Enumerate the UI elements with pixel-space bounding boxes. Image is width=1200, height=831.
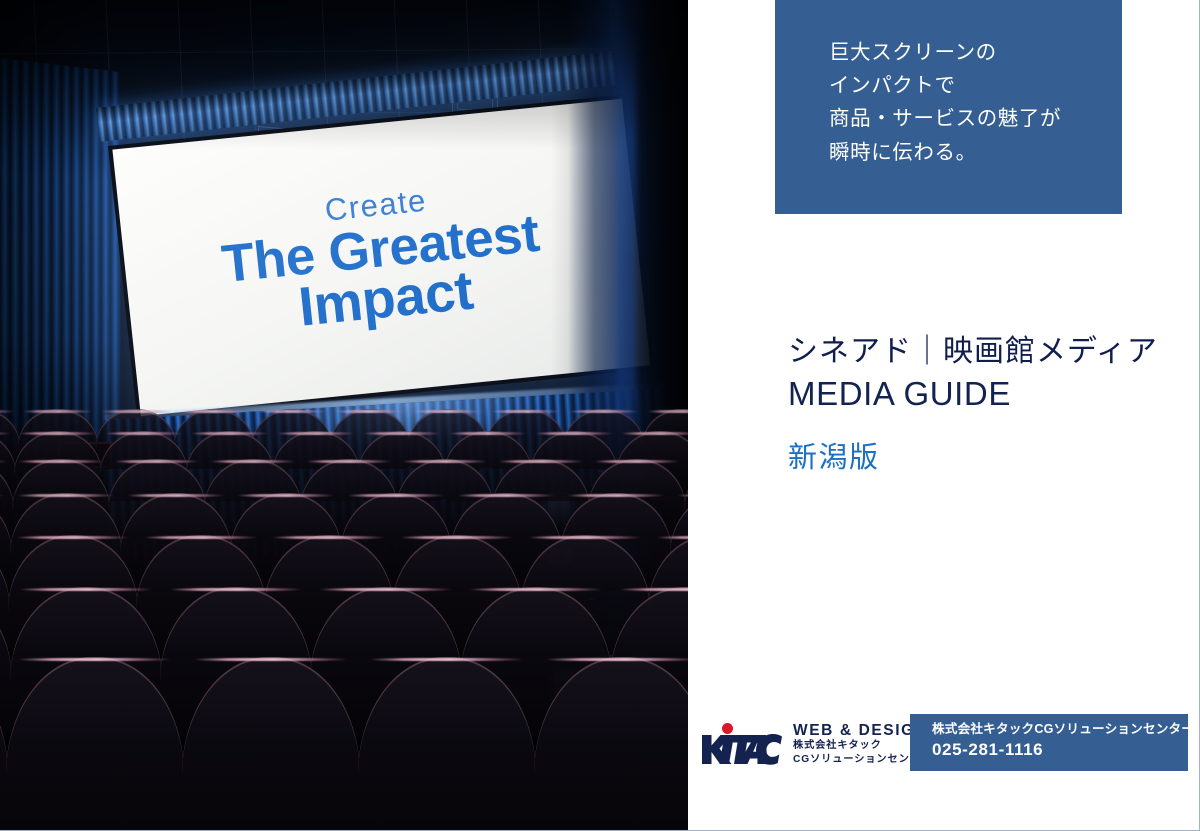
brand-lockup: WEB & DESIGN 株式会社キタック CGソリューションセンター bbox=[700, 720, 932, 768]
theater-seat bbox=[358, 657, 536, 831]
contact-box: 株式会社キタックCGソリューションセンター 025-281-1116 bbox=[910, 714, 1188, 771]
kitac-logo-icon bbox=[700, 722, 784, 766]
title-edition: 新潟版 bbox=[788, 434, 1158, 476]
headline-box: 巨大スクリーンの インパクトで 商品・サービスの魅了が 瞬時に伝わる。 bbox=[775, 0, 1122, 214]
footer: WEB & DESIGN 株式会社キタック CGソリューションセンター 株式会社… bbox=[688, 714, 1199, 774]
title-english: MEDIA GUIDE bbox=[788, 373, 1158, 415]
theater-seat bbox=[182, 657, 360, 831]
headline-line-1: 巨大スクリーンの bbox=[829, 36, 1122, 69]
headline-line-3: 商品・サービスの魅了が bbox=[829, 102, 1122, 135]
theater-seat bbox=[534, 657, 688, 831]
page-title: シネアド｜映画館メディア MEDIA GUIDE 新潟版 bbox=[788, 333, 1158, 476]
seat-rows bbox=[0, 421, 688, 831]
media-guide-cover-page: Create The Greatest Impact 巨大スクリーンの インパク… bbox=[0, 0, 1200, 831]
cinema-photo: Create The Greatest Impact bbox=[0, 0, 688, 831]
contact-telephone: 025-281-1116 bbox=[932, 739, 1188, 760]
seat-row bbox=[0, 657, 688, 831]
content-panel: 巨大スクリーンの インパクトで 商品・サービスの魅了が 瞬時に伝わる。 シネアド… bbox=[688, 0, 1199, 830]
theater-seat bbox=[6, 657, 184, 831]
headline-line-2: インパクトで bbox=[829, 69, 1122, 102]
headline-line-4: 瞬時に伝わる。 bbox=[829, 136, 1122, 169]
title-japanese: シネアド｜映画館メディア bbox=[788, 333, 1158, 371]
screen-message: Create The Greatest Impact bbox=[216, 173, 547, 341]
contact-company-name: 株式会社キタックCGソリューションセンター bbox=[932, 722, 1188, 738]
